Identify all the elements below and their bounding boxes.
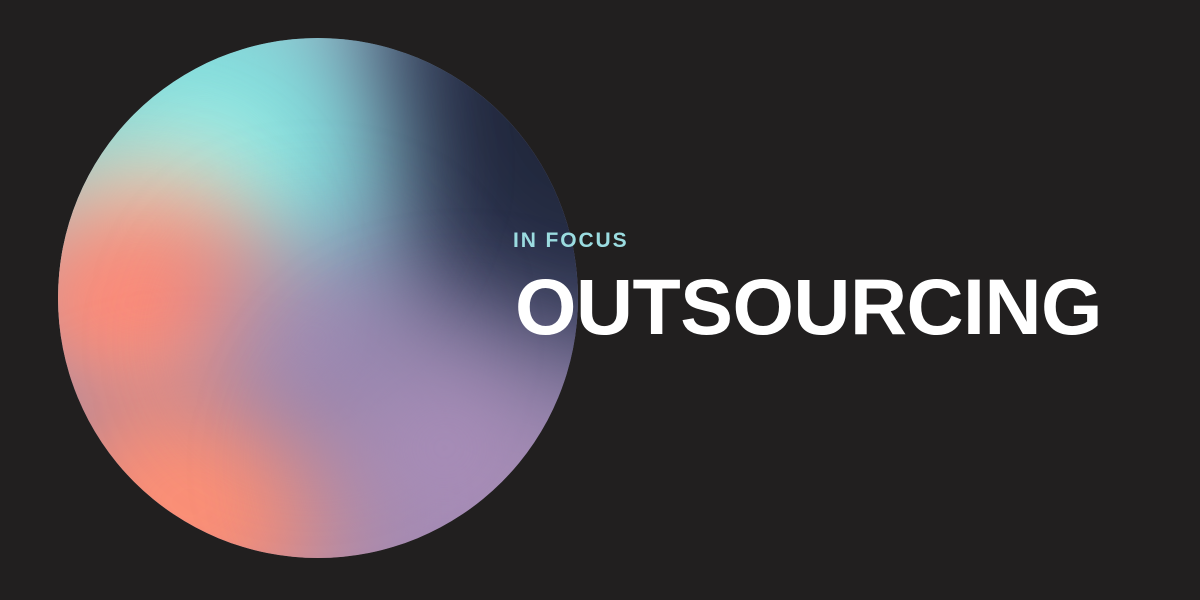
hero-text-block: IN FOCUS OUTSOURCING [513, 228, 1133, 348]
hero-banner: IN FOCUS OUTSOURCING [0, 0, 1200, 600]
gradient-sphere-graphic [58, 38, 578, 558]
eyebrow-label: IN FOCUS [513, 228, 1133, 254]
page-title: OUTSOURCING [515, 266, 1133, 348]
